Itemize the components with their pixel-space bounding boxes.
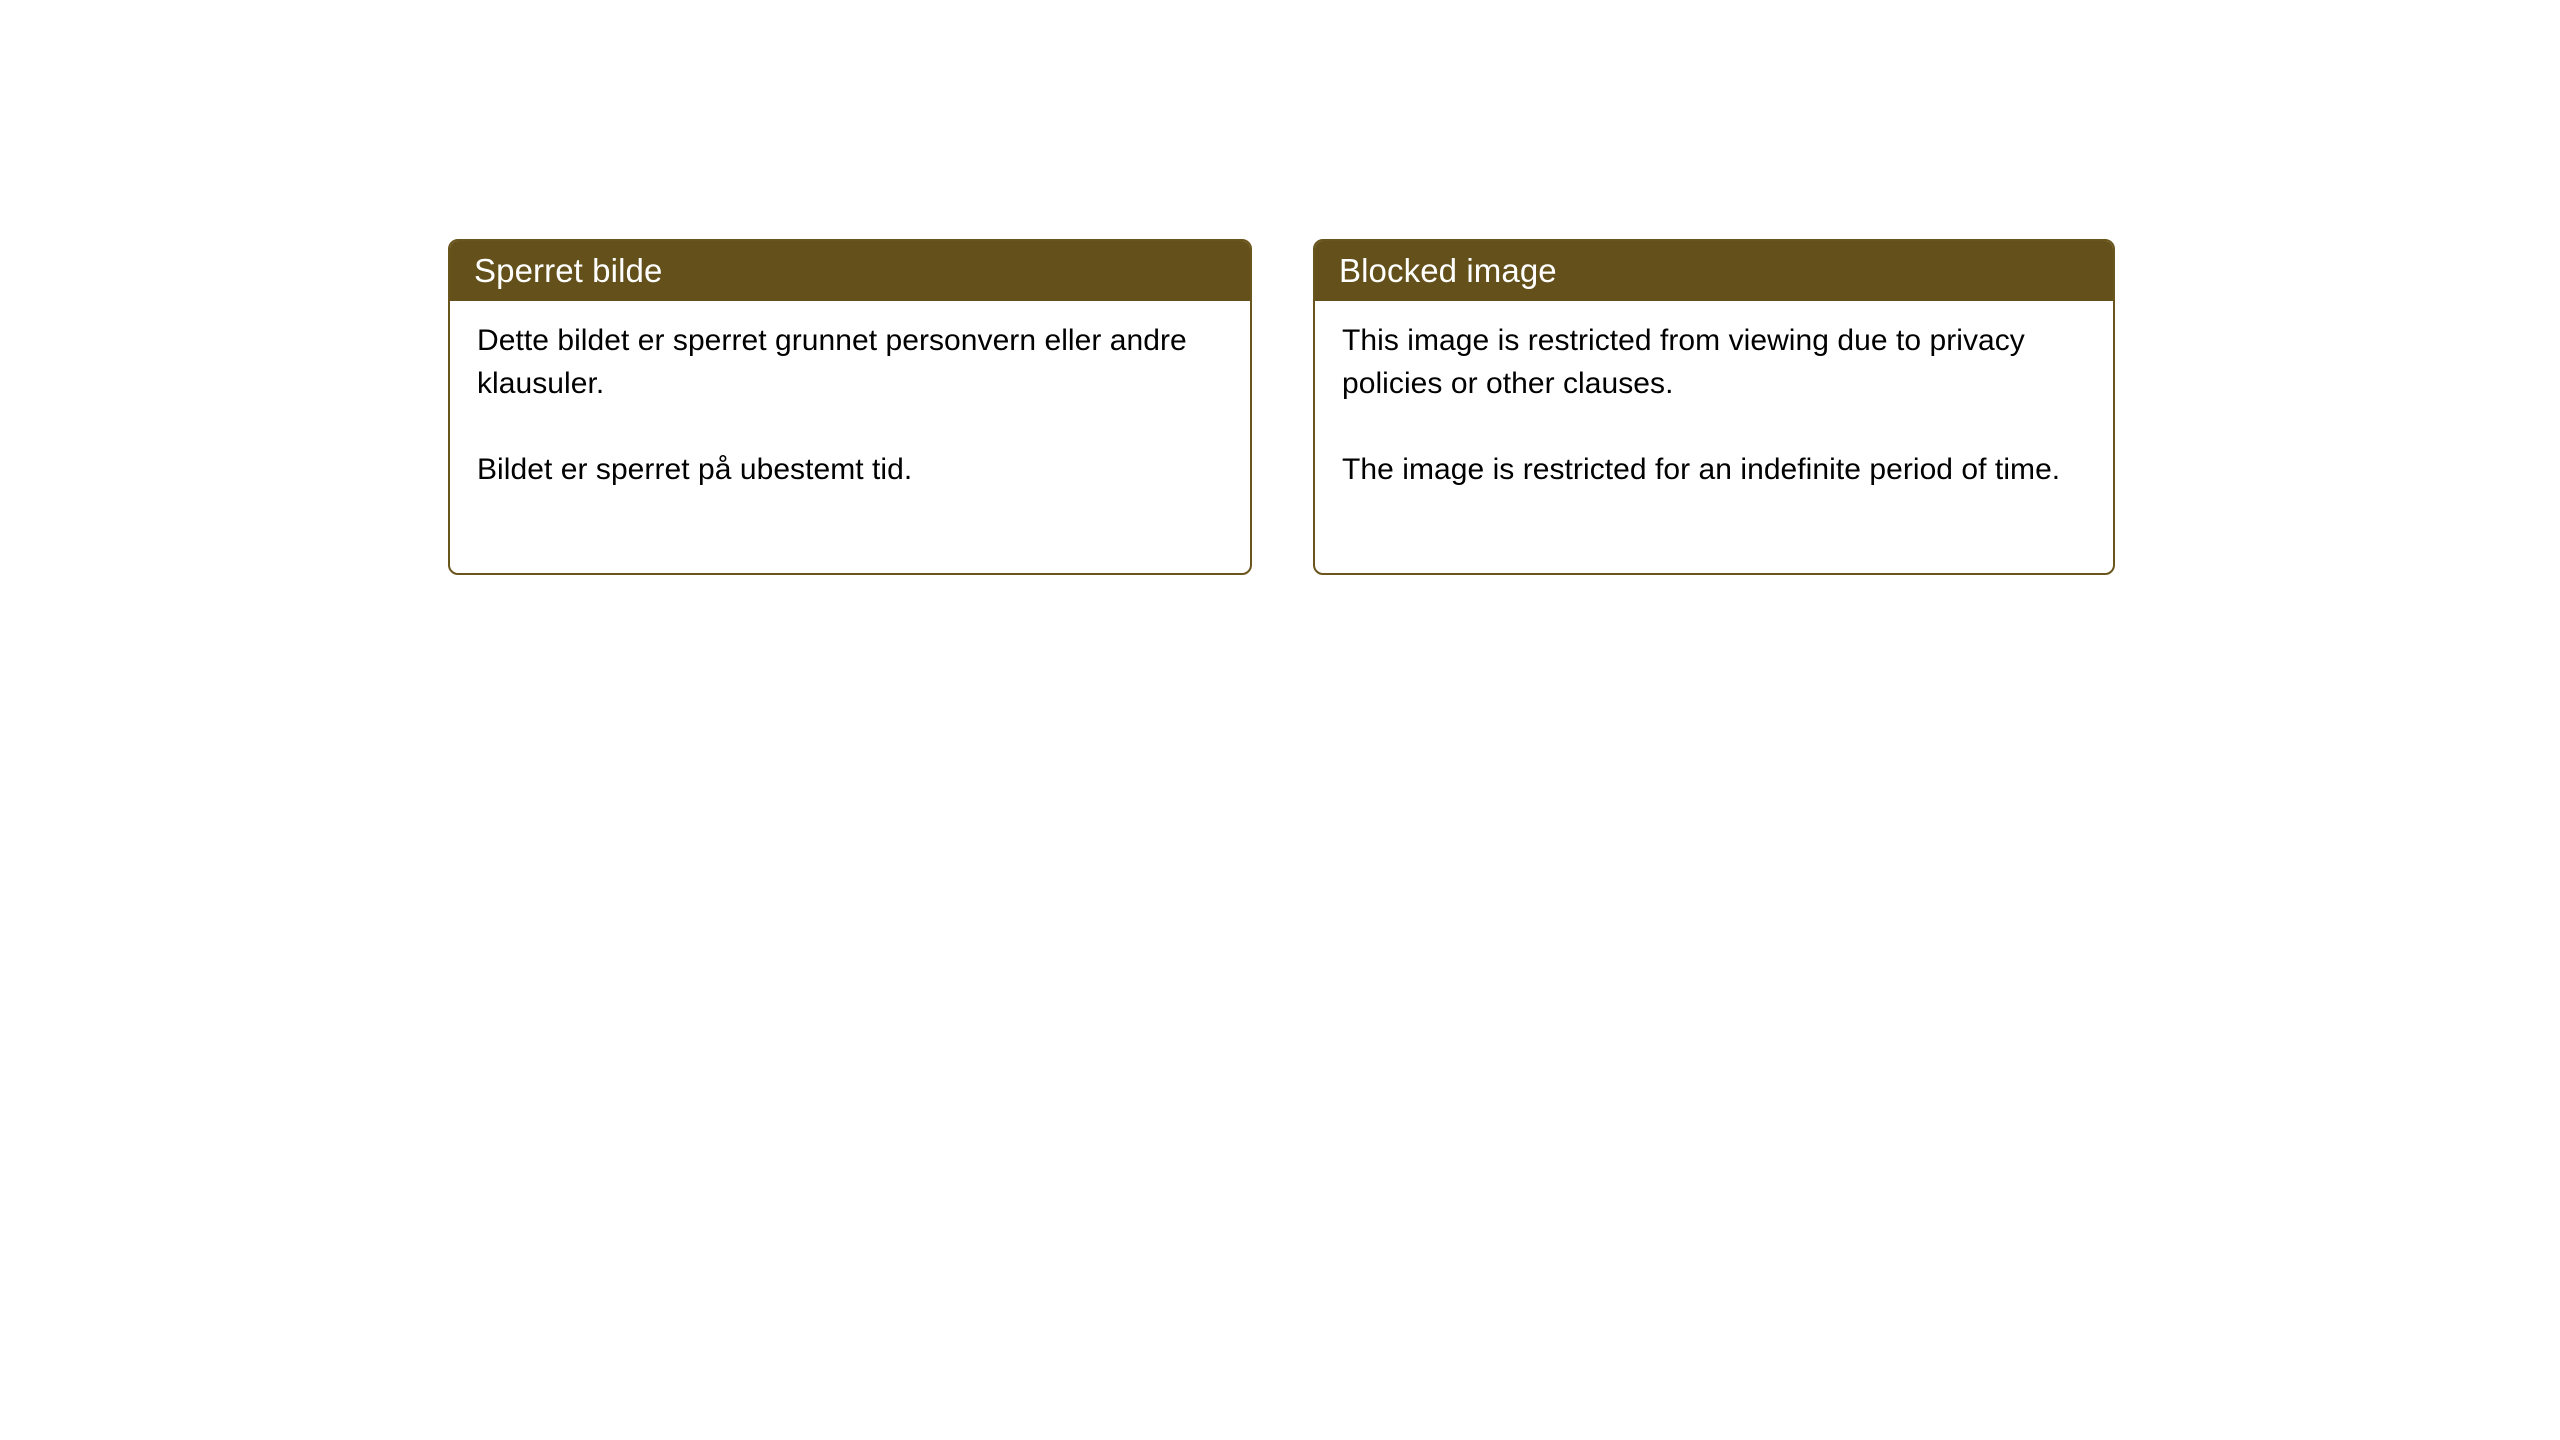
notice-body-en: This image is restricted from viewing du…: [1315, 301, 2113, 491]
notice-title-no: Sperret bilde: [474, 253, 662, 289]
notice-paragraph-duration-no: Bildet er sperret på ubestemt tid.: [477, 448, 1228, 491]
notice-paragraph-privacy-en: This image is restricted from viewing du…: [1342, 319, 2091, 405]
notice-header-en: Blocked image: [1314, 240, 2114, 301]
blocked-image-notice-card-en: Blocked image This image is restricted f…: [1313, 239, 2115, 575]
blocked-image-notice-card-no: Sperret bilde Dette bildet er sperret gr…: [448, 239, 1252, 575]
notice-body-no: Dette bildet er sperret grunnet personve…: [450, 301, 1250, 491]
notice-paragraph-privacy-no: Dette bildet er sperret grunnet personve…: [477, 319, 1228, 405]
page-canvas: Sperret bilde Dette bildet er sperret gr…: [0, 0, 2560, 1440]
notice-paragraph-duration-en: The image is restricted for an indefinit…: [1342, 448, 2091, 491]
notice-header-no: Sperret bilde: [449, 240, 1251, 301]
notice-title-en: Blocked image: [1339, 253, 1557, 289]
